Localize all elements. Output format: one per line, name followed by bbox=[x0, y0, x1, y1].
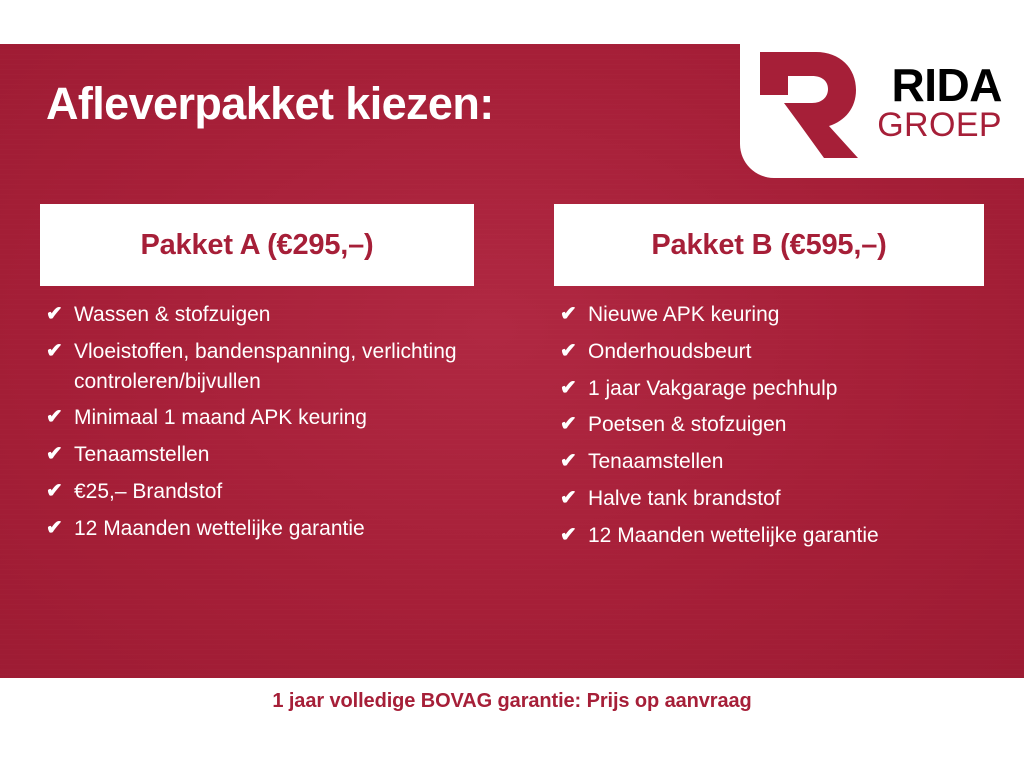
feature-label: €25,– Brandstof bbox=[74, 477, 474, 507]
package-a-title: Pakket A (€295,–) bbox=[140, 229, 373, 262]
list-item: ✔ Tenaamstellen bbox=[560, 447, 984, 477]
feature-label: Halve tank brandstof bbox=[588, 484, 984, 514]
check-icon: ✔ bbox=[46, 440, 74, 468]
feature-label: 1 jaar Vakgarage pechhulp bbox=[588, 374, 984, 404]
list-item: ✔ Wassen & stofzuigen bbox=[46, 300, 474, 330]
footer-note: 1 jaar volledige BOVAG garantie: Prijs o… bbox=[0, 690, 1024, 713]
check-icon: ✔ bbox=[560, 447, 588, 475]
feature-label: Tenaamstellen bbox=[588, 447, 984, 477]
package-card-a[interactable]: Pakket A (€295,–) ✔ Wassen & stofzuigen … bbox=[40, 204, 474, 551]
slide-canvas: Afleverpakket kiezen: RIDA GROEP Pakket … bbox=[0, 0, 1024, 768]
check-icon: ✔ bbox=[560, 374, 588, 402]
feature-label: Minimaal 1 maand APK keuring bbox=[74, 403, 474, 433]
rida-r-mark-icon bbox=[754, 48, 860, 160]
brand-logo-panel: RIDA GROEP bbox=[740, 27, 1024, 178]
check-icon: ✔ bbox=[46, 337, 74, 365]
list-item: ✔ Tenaamstellen bbox=[46, 440, 474, 470]
list-item: ✔ €25,– Brandstof bbox=[46, 477, 474, 507]
feature-label: Vloeistoffen, bandenspanning, verlichtin… bbox=[74, 337, 474, 397]
package-a-header: Pakket A (€295,–) bbox=[40, 204, 474, 286]
list-item: ✔ Vloeistoffen, bandenspanning, verlicht… bbox=[46, 337, 474, 397]
check-icon: ✔ bbox=[560, 300, 588, 328]
list-item: ✔ 12 Maanden wettelijke garantie bbox=[560, 521, 984, 551]
package-b-feature-list: ✔ Nieuwe APK keuring ✔ Onderhoudsbeurt ✔… bbox=[554, 286, 984, 551]
package-b-header: Pakket B (€595,–) bbox=[554, 204, 984, 286]
feature-label: 12 Maanden wettelijke garantie bbox=[74, 514, 474, 544]
check-icon: ✔ bbox=[560, 484, 588, 512]
feature-label: Onderhoudsbeurt bbox=[588, 337, 984, 367]
list-item: ✔ Nieuwe APK keuring bbox=[560, 300, 984, 330]
brand-logo-wordmark: RIDA GROEP bbox=[866, 63, 1024, 144]
check-icon: ✔ bbox=[560, 521, 588, 549]
feature-label: Poetsen & stofzuigen bbox=[588, 410, 984, 440]
list-item: ✔ Onderhoudsbeurt bbox=[560, 337, 984, 367]
page-title: Afleverpakket kiezen: bbox=[46, 78, 494, 130]
feature-label: Wassen & stofzuigen bbox=[74, 300, 474, 330]
brand-name-secondary: GROEP bbox=[877, 108, 1002, 144]
list-item: ✔ Halve tank brandstof bbox=[560, 484, 984, 514]
list-item: ✔ Poetsen & stofzuigen bbox=[560, 410, 984, 440]
footer-bar: 1 jaar volledige BOVAG garantie: Prijs o… bbox=[0, 678, 1024, 768]
check-icon: ✔ bbox=[560, 410, 588, 438]
package-b-title: Pakket B (€595,–) bbox=[651, 229, 886, 262]
check-icon: ✔ bbox=[46, 477, 74, 505]
check-icon: ✔ bbox=[560, 337, 588, 365]
check-icon: ✔ bbox=[46, 300, 74, 328]
brand-name-primary: RIDA bbox=[892, 63, 1002, 108]
feature-label: Tenaamstellen bbox=[74, 440, 474, 470]
list-item: ✔ 12 Maanden wettelijke garantie bbox=[46, 514, 474, 544]
list-item: ✔ Minimaal 1 maand APK keuring bbox=[46, 403, 474, 433]
feature-label: Nieuwe APK keuring bbox=[588, 300, 984, 330]
package-a-feature-list: ✔ Wassen & stofzuigen ✔ Vloeistoffen, ba… bbox=[40, 286, 474, 544]
package-card-b[interactable]: Pakket B (€595,–) ✔ Nieuwe APK keuring ✔… bbox=[554, 204, 984, 558]
check-icon: ✔ bbox=[46, 403, 74, 431]
check-icon: ✔ bbox=[46, 514, 74, 542]
feature-label: 12 Maanden wettelijke garantie bbox=[588, 521, 984, 551]
list-item: ✔ 1 jaar Vakgarage pechhulp bbox=[560, 374, 984, 404]
